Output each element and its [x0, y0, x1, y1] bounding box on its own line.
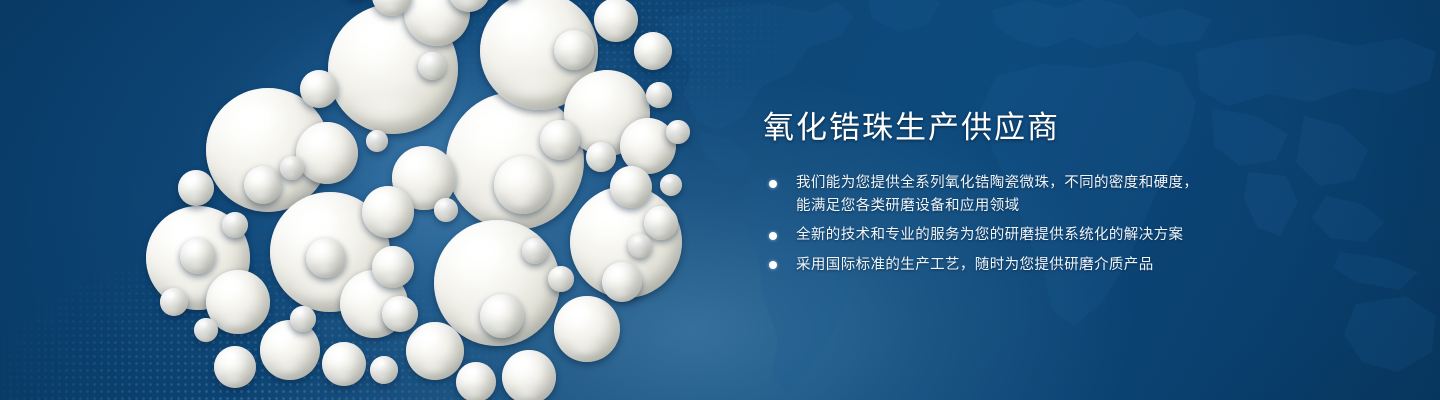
page-title: 氧化锆珠生产供应商 — [763, 108, 1233, 148]
list-item: 我们能为您提供全系列氧化锆陶瓷微珠，不同的密度和硬度， 能满足您各类研磨设备和应… — [769, 172, 1233, 217]
list-item-line: 我们能为您提供全系列氧化锆陶瓷微珠，不同的密度和硬度， — [796, 172, 1233, 195]
list-item: 全新的技术和专业的服务为您的研磨提供系统化的解决方案 — [769, 224, 1233, 247]
hero-banner: 氧化锆珠生产供应商 我们能为您提供全系列氧化锆陶瓷微珠，不同的密度和硬度， 能满… — [0, 0, 1440, 400]
feature-list: 我们能为您提供全系列氧化锆陶瓷微珠，不同的密度和硬度， 能满足您各类研磨设备和应… — [769, 172, 1233, 276]
bullet-dot-icon — [769, 180, 777, 188]
banner-copy: 氧化锆珠生产供应商 我们能为您提供全系列氧化锆陶瓷微珠，不同的密度和硬度， 能满… — [763, 108, 1233, 276]
bullet-dot-icon — [769, 261, 777, 269]
list-item-line: 全新的技术和专业的服务为您的研磨提供系统化的解决方案 — [796, 224, 1233, 247]
list-item-line: 采用国际标准的生产工艺，随时为您提供研磨介质产品 — [796, 254, 1233, 277]
list-item-line: 能满足您各类研磨设备和应用领域 — [796, 195, 1233, 218]
bullet-dot-icon — [769, 232, 777, 240]
list-item: 采用国际标准的生产工艺，随时为您提供研磨介质产品 — [769, 254, 1233, 277]
